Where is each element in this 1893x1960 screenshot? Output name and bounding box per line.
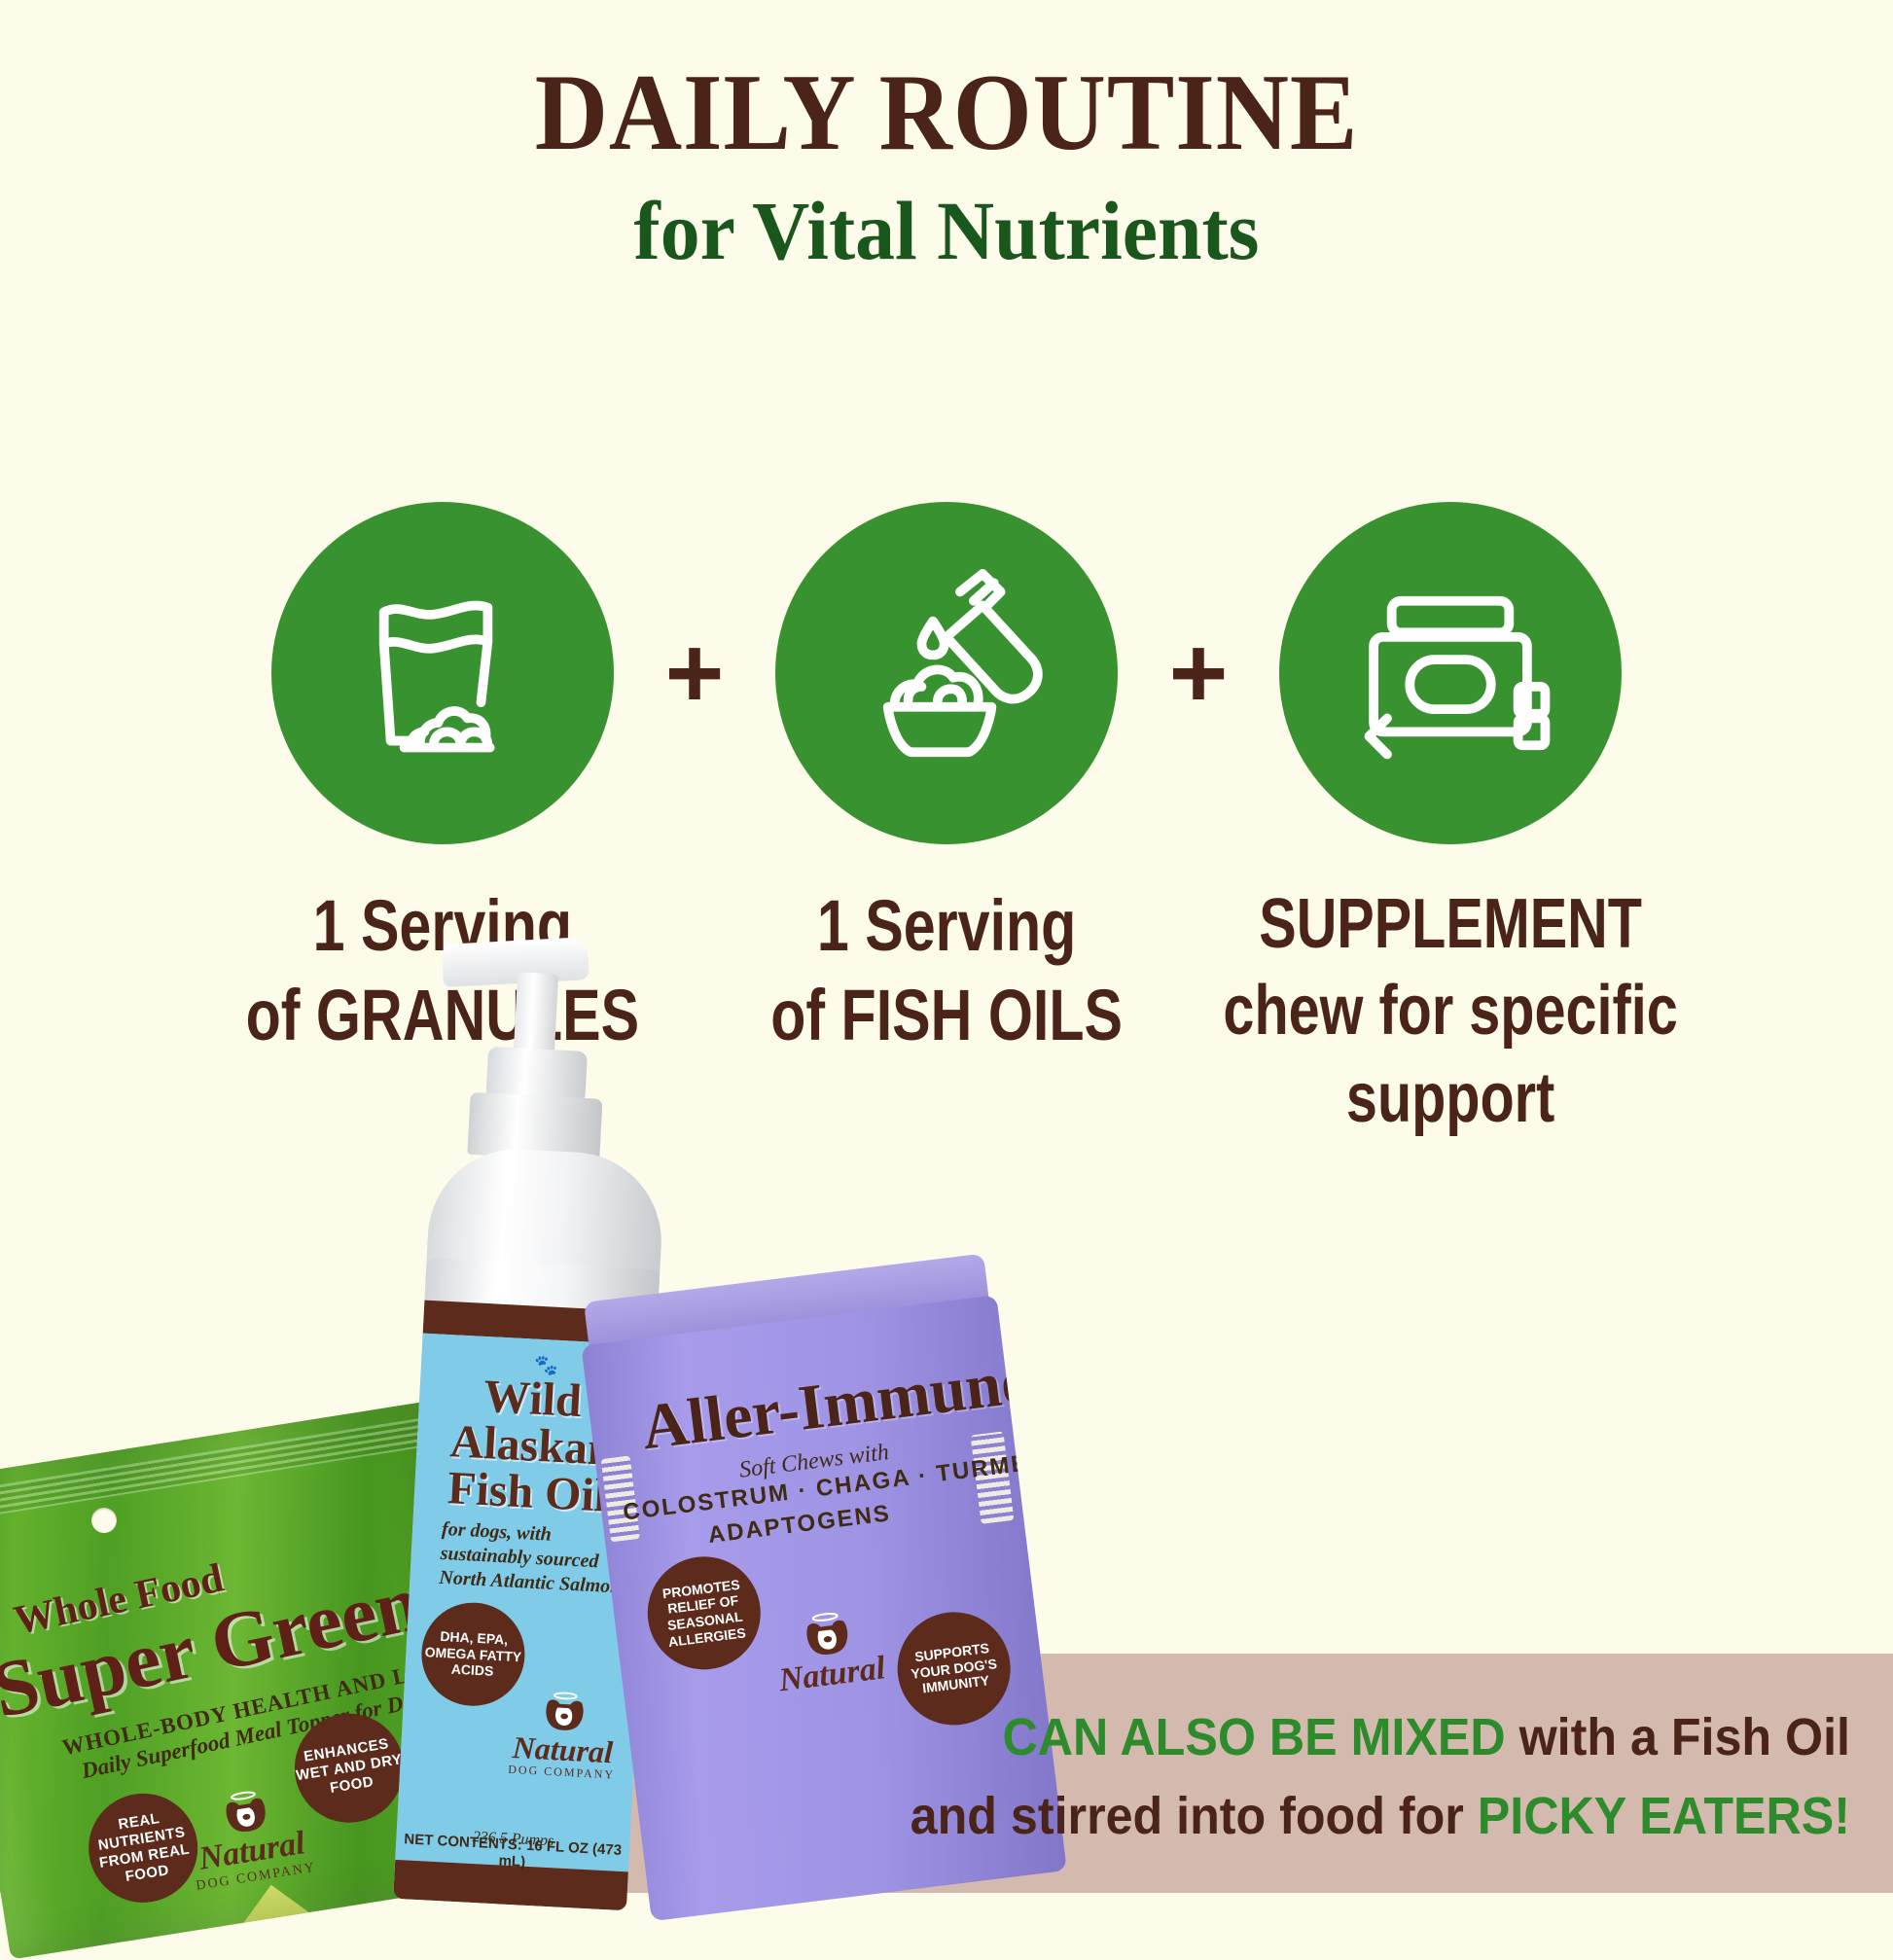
page-title: DAILY ROUTINE (66, 56, 1827, 171)
fish-oil-bottle-pouring-into-bowl-icon (834, 560, 1059, 786)
routine-steps-row: 1 Serving of GRANULES + 1 Ser (0, 502, 1893, 1142)
footer-line-2-highlight: PICKY EATERS! (1478, 1787, 1850, 1845)
bag-brand-logo: Natural DOG COMPANY (179, 1779, 321, 1895)
supplement-jar-icon (1338, 560, 1563, 786)
plus-separator-1: + (652, 502, 737, 844)
bag-zipper (0, 1415, 442, 1523)
step-fish-oils-circle (775, 502, 1118, 844)
footer-line-1: CAN ALSO BE MIXED with a Fish Oil (837, 1698, 1850, 1777)
bottle-title-line-3: Fish Oil (446, 1461, 609, 1523)
granules-bag-icon (330, 560, 555, 786)
step-granules-circle (271, 502, 614, 844)
footer-copy: CAN ALSO BE MIXED with a Fish Oil and st… (837, 1698, 1850, 1856)
footer-line-1-highlight: CAN ALSO BE MIXED (1003, 1708, 1506, 1766)
step-supplement-label-line-1: SUPPLEMENT (1223, 881, 1677, 968)
step-fish-oils-label-line-1: 1 Serving (770, 881, 1123, 971)
jar-brand-word: Natural (760, 1650, 905, 1700)
bulldog-logo-icon (537, 1688, 591, 1733)
step-fish-oils-label: 1 Serving of FISH OILS (770, 881, 1123, 1060)
bottle-brand-logo: Natural DOG COMPANY (501, 1687, 626, 1783)
step-supplement: SUPPLEMENT chew for specific support (1241, 502, 1660, 1142)
header-block: DAILY ROUTINE for Vital Nutrients (0, 56, 1893, 283)
step-fish-oils-label-line-2: of FISH OILS (770, 971, 1123, 1060)
bottle-pump-neck (514, 972, 558, 1057)
bulldog-logo-icon (796, 1607, 859, 1660)
footer-line-2-lead: and stirred into food for (911, 1787, 1478, 1845)
infographic-canvas: DAILY ROUTINE for Vital Nutrients (0, 0, 1893, 1893)
jar-brand-logo: Natural (754, 1601, 905, 1699)
step-supplement-label: SUPPLEMENT chew for specific support (1223, 881, 1677, 1142)
bag-hang-hole (89, 1506, 119, 1535)
plus-separator-2: + (1156, 502, 1241, 844)
step-supplement-circle (1279, 502, 1622, 844)
bottle-pump-head (442, 937, 589, 987)
footer-line-2: and stirred into food for PICKY EATERS! (837, 1777, 1850, 1856)
footer-line-1-rest: with a Fish Oil (1506, 1708, 1850, 1766)
step-fish-oils: 1 Serving of FISH OILS (737, 502, 1156, 1060)
step-supplement-label-line-2: chew for specific (1223, 968, 1677, 1054)
page-subtitle: for Vital Nutrients (48, 179, 1846, 284)
jar-badge-seasonal-allergies: PROMOTES RELIEF OF SEASONAL ALLERGIES (641, 1550, 767, 1676)
step-supplement-label-line-3: support (1223, 1055, 1677, 1142)
